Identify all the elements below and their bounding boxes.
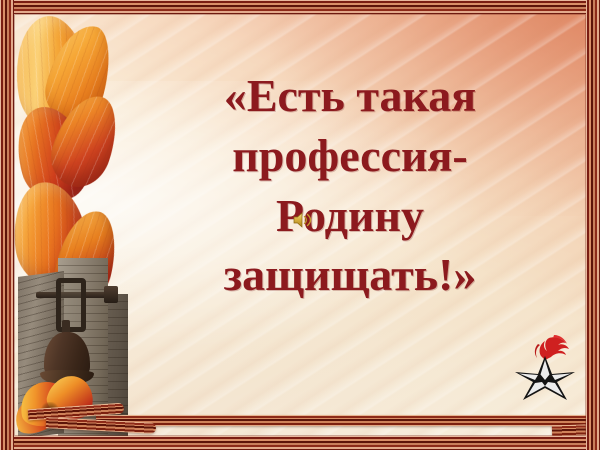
- st-george-ribbon: [96, 415, 586, 426]
- speaker-audio-icon[interactable]: [292, 210, 314, 230]
- slide-border-top: [0, 0, 600, 14]
- slide-border-right: [586, 0, 600, 450]
- st-george-ribbon-tail: [552, 424, 586, 436]
- bell-mount-knob: [104, 286, 118, 303]
- slide-border-left: [0, 0, 14, 450]
- slide-border-bottom: [0, 436, 600, 450]
- slide-title: «Есть такая профессия- Родину защищать!»: [140, 66, 560, 305]
- eternal-flame-star-icon: [505, 334, 587, 404]
- presentation-slide: «Есть такая профессия- Родину защищать!»: [0, 0, 600, 450]
- bell-yoke: [56, 278, 86, 332]
